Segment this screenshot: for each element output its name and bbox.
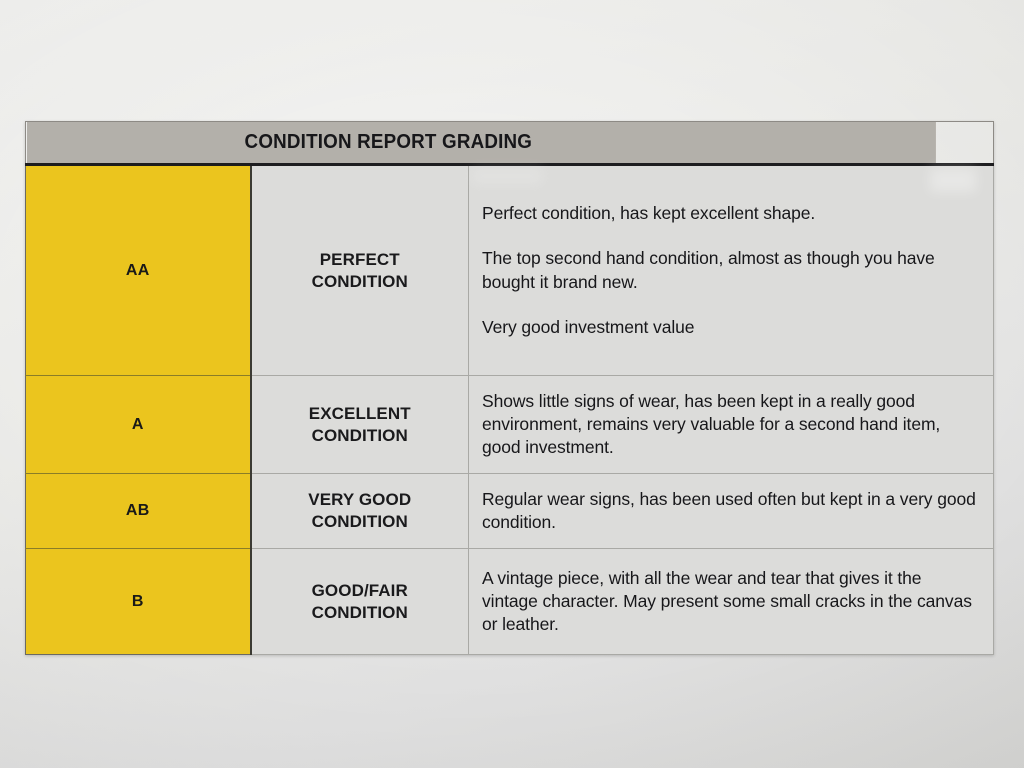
condition-name-line-2: CONDITION (312, 512, 408, 531)
grade-badge-ab: AB (26, 474, 251, 549)
table-row: AA PERFECT CONDITION Perfect condition, … (26, 165, 994, 376)
condition-description-a: Shows little signs of wear, has been kep… (469, 376, 994, 474)
table-body: AA PERFECT CONDITION Perfect condition, … (26, 165, 994, 655)
condition-name-line-1: GOOD/FAIR (312, 581, 408, 600)
condition-name-line-1: VERY GOOD (308, 490, 411, 509)
table-header-row: CONDITION REPORT GRADING (26, 122, 994, 165)
page-title: CONDITION REPORT GRADING (26, 122, 936, 165)
condition-report-grading-table: CONDITION REPORT GRADING AA PERFECT COND… (25, 121, 994, 655)
description-paragraph: Shows little signs of wear, has been kep… (482, 390, 979, 460)
description-paragraph: Very good investment value (482, 316, 979, 339)
description-paragraph: The top second hand condition, almost as… (482, 247, 979, 294)
condition-description-ab: Regular wear signs, has been used often … (469, 474, 994, 549)
condition-name-line-2: CONDITION (312, 272, 408, 291)
condition-name-a: EXCELLENT CONDITION (251, 376, 469, 474)
condition-description-aa: Perfect condition, has kept excellent sh… (469, 165, 994, 376)
condition-description-b: A vintage piece, with all the wear and t… (469, 549, 994, 655)
condition-name-line-2: CONDITION (312, 603, 408, 622)
table-header: CONDITION REPORT GRADING (26, 122, 994, 165)
condition-name-b: GOOD/FAIR CONDITION (251, 549, 469, 655)
table-row: A EXCELLENT CONDITION Shows little signs… (26, 376, 994, 474)
table-row: AB VERY GOOD CONDITION Regular wear sign… (26, 474, 994, 549)
grade-badge-aa: AA (26, 165, 251, 376)
condition-name-line-1: PERFECT (320, 250, 400, 269)
condition-name-line-1: EXCELLENT (309, 404, 411, 423)
condition-name-ab: VERY GOOD CONDITION (251, 474, 469, 549)
table-row: B GOOD/FAIR CONDITION A vintage piece, w… (26, 549, 994, 655)
grade-badge-b: B (26, 549, 251, 655)
condition-name-aa: PERFECT CONDITION (251, 165, 469, 376)
condition-name-line-2: CONDITION (312, 426, 408, 445)
description-paragraph: Perfect condition, has kept excellent sh… (482, 202, 979, 225)
description-paragraph: A vintage piece, with all the wear and t… (482, 567, 979, 637)
description-paragraph: Regular wear signs, has been used often … (482, 488, 979, 535)
grade-badge-a: A (26, 376, 251, 474)
